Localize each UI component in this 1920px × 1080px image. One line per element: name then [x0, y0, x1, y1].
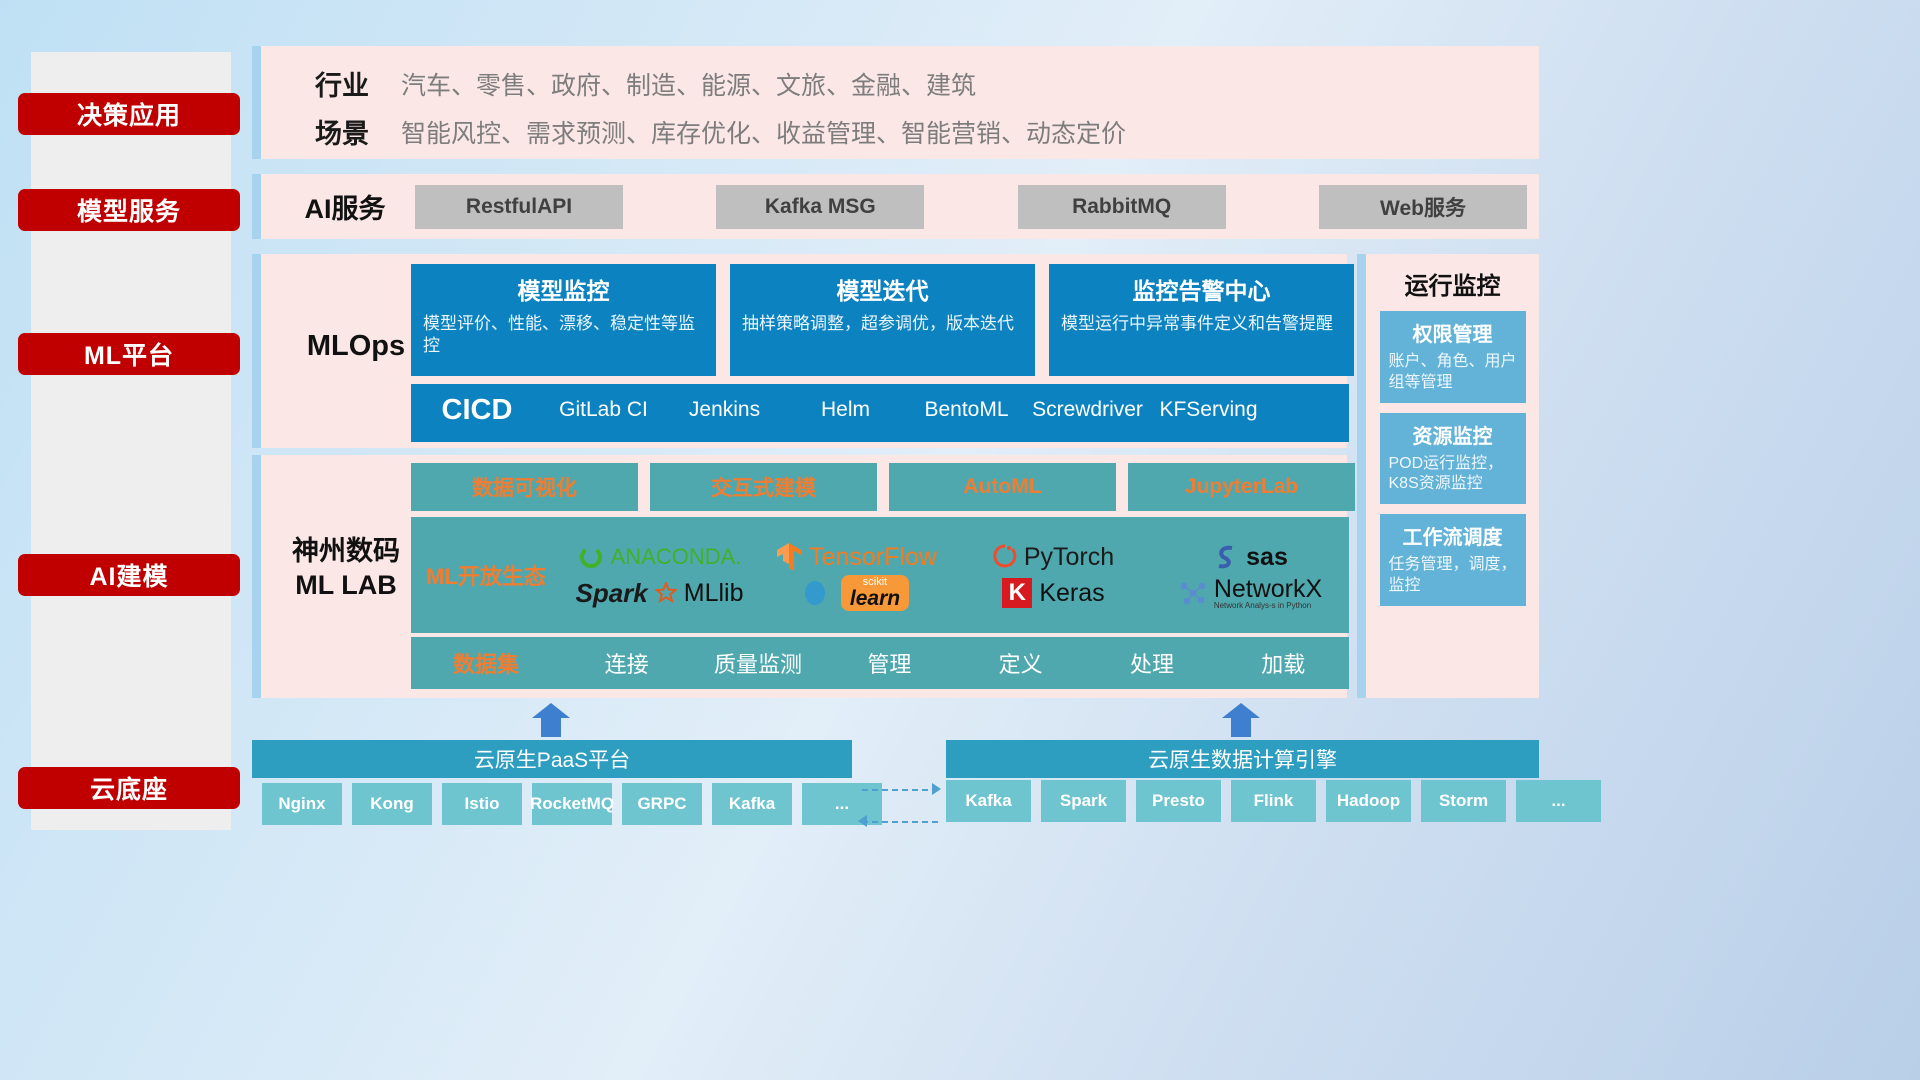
- ml-lab-label-line1: 神州数码: [275, 535, 417, 569]
- ai-modeling-band: 神州数码 ML LAB 数据可视化 交互式建模 AutoML JupyterLa…: [252, 455, 1347, 698]
- data-chip-flink[interactable]: Flink: [1231, 780, 1316, 822]
- industry-value: 汽车、零售、政府、制造、能源、文旅、金融、建筑: [401, 66, 976, 102]
- anaconda-icon: [578, 544, 604, 570]
- mlops-card-desc: 模型运行中异常事件定义和告警提醒: [1061, 313, 1342, 335]
- dataset-item-load[interactable]: 加载: [1218, 647, 1349, 679]
- modeling-tool-list: 数据可视化 交互式建模 AutoML JupyterLab: [411, 463, 1355, 511]
- cloud-data-engine-chip-list: Kafka Spark Presto Flink Hadoop Storm ..…: [946, 780, 1601, 822]
- mlops-card-model-monitor[interactable]: 模型监控 模型评价、性能、漂移、稳定性等监控: [411, 264, 716, 376]
- sidebar-item-label: 模型服务: [77, 192, 181, 228]
- dataset-item-process[interactable]: 处理: [1086, 647, 1217, 679]
- logo-scikit-learn: scikit learn: [804, 575, 909, 611]
- logo-anaconda-label: ANACONDA.: [611, 544, 742, 570]
- cloud-chip-nginx[interactable]: Nginx: [262, 783, 342, 825]
- sidebar-item-decision-app[interactable]: 决策应用: [18, 93, 240, 135]
- connector-arrow-left-icon: [858, 815, 867, 827]
- cloud-chip-grpc[interactable]: GRPC: [622, 783, 702, 825]
- connector-line-left: [862, 821, 938, 823]
- mlops-band: MLOps 模型监控 模型评价、性能、漂移、稳定性等监控 模型迭代 抽样策略调整…: [252, 254, 1347, 448]
- cloud-data-engine-bar[interactable]: 云原生数据计算引擎: [946, 740, 1539, 778]
- mlops-card-title: 监控告警中心: [1061, 272, 1342, 306]
- mlops-card-alert-center[interactable]: 监控告警中心 模型运行中异常事件定义和告警提醒: [1049, 264, 1354, 376]
- logo-spark-label: Spark: [575, 578, 647, 609]
- ml-ecosystem-panel: ML开放生态 ANACONDA. TensorFlow: [411, 517, 1349, 633]
- logo-tensorflow: TensorFlow: [776, 542, 937, 572]
- ml-ecosystem-logo-grid: ANACONDA. TensorFlow PyTorch: [561, 539, 1349, 611]
- logo-sas: sas: [1213, 543, 1288, 572]
- cicd-item-jenkins[interactable]: Jenkins: [664, 384, 785, 423]
- mlops-label: MLOps: [281, 330, 431, 363]
- cicd-item-bentoml[interactable]: BentoML: [906, 384, 1027, 423]
- cicd-item-gitlab-ci[interactable]: GitLab CI: [543, 384, 664, 423]
- scenario-row: 场景 智能风控、需求预测、库存优化、收益管理、智能营销、动态定价: [283, 112, 1126, 151]
- monitor-column-title: 运行监控: [1366, 266, 1539, 301]
- dataset-item-quality[interactable]: 质量监测: [692, 647, 823, 679]
- logo-learn-label: learn: [850, 588, 900, 609]
- ai-service-chip-kafka-msg[interactable]: Kafka MSG: [716, 185, 924, 229]
- logo-keras-label: Keras: [1039, 579, 1104, 608]
- logo-pytorch: PyTorch: [993, 543, 1114, 572]
- sidebar-item-label: 云底座: [90, 770, 168, 806]
- logo-pytorch-label: PyTorch: [1024, 543, 1114, 572]
- mlops-card-model-iteration[interactable]: 模型迭代 抽样策略调整，超参调优，版本迭代: [730, 264, 1035, 376]
- dataset-title: 数据集: [411, 647, 561, 679]
- data-chip-more[interactable]: ...: [1516, 780, 1601, 822]
- ml-lab-label: 神州数码 ML LAB: [275, 535, 417, 603]
- tensorflow-icon: [776, 542, 802, 572]
- cloud-paas-bar[interactable]: 云原生PaaS平台: [252, 740, 852, 778]
- monitor-card-title: 工作流调度: [1389, 521, 1517, 550]
- sidebar-item-label: ML平台: [84, 336, 174, 372]
- cicd-item-kfserving[interactable]: KFServing: [1148, 384, 1269, 423]
- ai-service-band: AI服务 RestfulAPI Kafka MSG RabbitMQ Web服务: [252, 174, 1539, 239]
- ai-service-chip-web-service[interactable]: Web服务: [1319, 185, 1527, 229]
- logo-anaconda: ANACONDA.: [578, 544, 742, 570]
- monitor-card-desc: 任务管理，调度，监控: [1389, 555, 1517, 597]
- modeling-tool-interactive[interactable]: 交互式建模: [650, 463, 877, 511]
- ai-service-chip-restfulapi[interactable]: RestfulAPI: [415, 185, 623, 229]
- mlops-card-desc: 抽样策略调整，超参调优，版本迭代: [742, 313, 1023, 335]
- ai-service-chip-rabbitmq[interactable]: RabbitMQ: [1018, 185, 1226, 229]
- mlops-card-list: 模型监控 模型评价、性能、漂移、稳定性等监控 模型迭代 抽样策略调整，超参调优，…: [411, 264, 1354, 376]
- industry-label: 行业: [283, 64, 401, 103]
- sidebar-item-label: AI建模: [89, 557, 168, 593]
- mlops-card-title: 模型迭代: [742, 272, 1023, 306]
- arrow-up-data-engine-icon: [1222, 703, 1260, 737]
- spark-icon: [655, 582, 677, 604]
- monitor-card-title: 资源监控: [1389, 420, 1517, 449]
- cloud-paas-chip-list: Nginx Kong Istio RocketMQ GRPC Kafka ...: [262, 783, 882, 825]
- networkx-icon: [1179, 580, 1207, 606]
- ai-service-chip-list: RestfulAPI Kafka MSG RabbitMQ Web服务: [415, 185, 1539, 229]
- data-chip-spark[interactable]: Spark: [1041, 780, 1126, 822]
- ml-ecosystem-title: ML开放生态: [411, 559, 561, 591]
- cicd-strip: CICD GitLab CI Jenkins Helm BentoML Scre…: [411, 384, 1349, 442]
- logo-networkx-sub: Network Analys-s in Python: [1214, 602, 1322, 610]
- data-chip-presto[interactable]: Presto: [1136, 780, 1221, 822]
- data-chip-kafka[interactable]: Kafka: [946, 780, 1031, 822]
- monitor-card-permission[interactable]: 权限管理 账户、角色、用户组等管理: [1380, 311, 1526, 403]
- modeling-tool-jupyterlab[interactable]: JupyterLab: [1128, 463, 1355, 511]
- logo-keras: K Keras: [1002, 578, 1104, 608]
- cloud-chip-kafka[interactable]: Kafka: [712, 783, 792, 825]
- monitor-card-workflow[interactable]: 工作流调度 任务管理，调度，监控: [1380, 514, 1526, 606]
- dataset-item-manage[interactable]: 管理: [824, 647, 955, 679]
- cloud-chip-istio[interactable]: Istio: [442, 783, 522, 825]
- industry-band: 行业 汽车、零售、政府、制造、能源、文旅、金融、建筑 场景 智能风控、需求预测、…: [252, 46, 1539, 159]
- sidebar-item-cloud-base[interactable]: 云底座: [18, 767, 240, 809]
- dataset-item-connect[interactable]: 连接: [561, 647, 692, 679]
- scenario-value: 智能风控、需求预测、库存优化、收益管理、智能营销、动态定价: [401, 114, 1126, 150]
- cicd-title: CICD: [411, 384, 543, 427]
- cicd-item-screwdriver[interactable]: Screwdriver: [1027, 384, 1148, 423]
- industry-row: 行业 汽车、零售、政府、制造、能源、文旅、金融、建筑: [283, 64, 976, 103]
- cloud-chip-rocketmq[interactable]: RocketMQ: [532, 783, 612, 825]
- layer-rail: [31, 52, 231, 830]
- modeling-tool-automl[interactable]: AutoML: [889, 463, 1116, 511]
- monitor-card-desc: 账户、角色、用户组等管理: [1389, 352, 1517, 394]
- data-chip-hadoop[interactable]: Hadoop: [1326, 780, 1411, 822]
- monitor-card-title: 权限管理: [1389, 318, 1517, 347]
- logo-spark-mllib: Spark MLlib: [575, 578, 743, 609]
- dataset-strip: 数据集 连接 质量监测 管理 定义 处理 加载: [411, 637, 1349, 689]
- modeling-tool-data-viz[interactable]: 数据可视化: [411, 463, 638, 511]
- connector-arrow-right-icon: [932, 783, 941, 795]
- monitor-column: 运行监控 权限管理 账户、角色、用户组等管理 资源监控 POD运行监控，K8S资…: [1357, 254, 1539, 698]
- mlops-card-title: 模型监控: [423, 272, 704, 306]
- dataset-item-define[interactable]: 定义: [955, 647, 1086, 679]
- logo-networkx: NetworkX Network Analys-s in Python: [1179, 577, 1322, 610]
- logo-mllib-label: MLlib: [684, 579, 744, 608]
- sidebar-item-ml-platform[interactable]: ML平台: [18, 333, 240, 375]
- cicd-item-helm[interactable]: Helm: [785, 384, 906, 423]
- monitor-card-resource[interactable]: 资源监控 POD运行监控，K8S资源监控: [1380, 413, 1526, 505]
- cloud-paas-title: 云原生PaaS平台: [474, 744, 630, 774]
- scenario-label: 场景: [283, 112, 401, 151]
- sidebar-item-ai-modeling[interactable]: AI建模: [18, 554, 240, 596]
- arrow-up-paas-icon: [532, 703, 570, 737]
- cloud-data-engine-title: 云原生数据计算引擎: [1148, 744, 1337, 774]
- connector-line-right: [862, 789, 938, 791]
- cloud-chip-kong[interactable]: Kong: [352, 783, 432, 825]
- ml-lab-label-line2: ML LAB: [275, 569, 417, 603]
- sidebar-item-model-service[interactable]: 模型服务: [18, 189, 240, 231]
- keras-icon: K: [1002, 578, 1032, 608]
- ai-service-label: AI服务: [275, 187, 415, 226]
- logo-networkx-label: NetworkX: [1214, 577, 1322, 602]
- logo-sas-label: sas: [1246, 543, 1288, 572]
- pytorch-icon: [993, 543, 1017, 571]
- sidebar-item-label: 决策应用: [77, 96, 181, 132]
- data-chip-storm[interactable]: Storm: [1421, 780, 1506, 822]
- sas-icon: [1213, 543, 1239, 571]
- scikit-icon: [804, 579, 834, 607]
- monitor-card-desc: POD运行监控，K8S资源监控: [1389, 454, 1517, 496]
- mlops-card-desc: 模型评价、性能、漂移、稳定性等监控: [423, 313, 704, 357]
- logo-tensorflow-label: TensorFlow: [809, 543, 937, 572]
